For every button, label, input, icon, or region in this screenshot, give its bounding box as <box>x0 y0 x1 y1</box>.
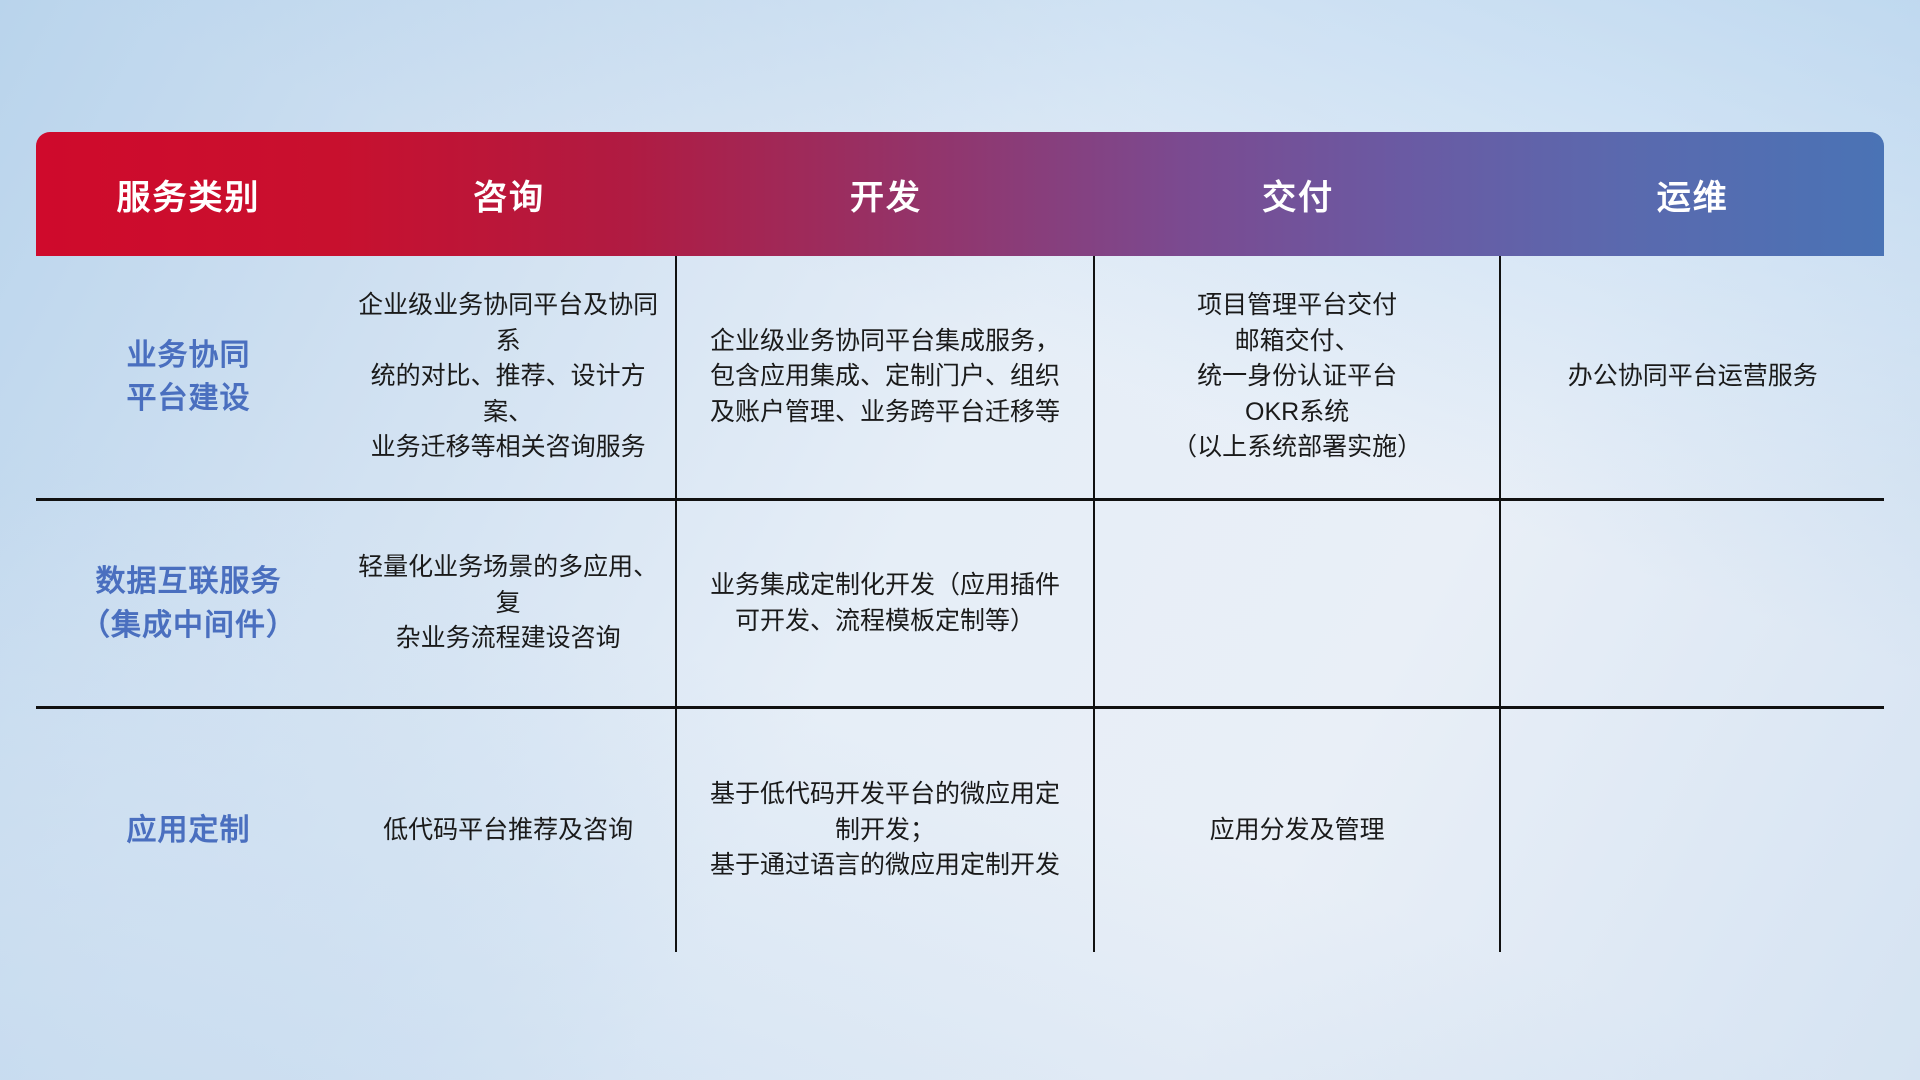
service-matrix-table-wrapper: 服务类别 咨询 开发 交付 运维 业务协同 平台建设 企业级业务协同平台及协同系… <box>36 132 1884 952</box>
table-row: 数据互联服务 （集成中间件） 轻量化业务场景的多应用、复 杂业务流程建设咨询 业… <box>36 501 1884 709</box>
header-row: 服务类别 咨询 开发 交付 运维 <box>36 132 1884 256</box>
cell-consulting: 轻量化业务场景的多应用、复 杂业务流程建设咨询 <box>341 501 677 709</box>
cell-delivery: 应用分发及管理 <box>1095 709 1502 952</box>
cell-text: 轻量化业务场景的多应用、复 杂业务流程建设咨询 <box>357 550 659 657</box>
column-header-operations-label: 运维 <box>1657 179 1729 217</box>
column-header-consulting-label: 咨询 <box>473 179 545 217</box>
cell-operations <box>1501 709 1884 952</box>
cell-development: 基于低代码开发平台的微应用定 制开发； 基于通过语言的微应用定制开发 <box>677 709 1095 952</box>
cell-development: 业务集成定制化开发（应用插件 可开发、流程模板定制等） <box>677 501 1095 709</box>
cell-text: 企业级业务协同平台集成服务， 包含应用集成、定制门户、组织 及账户管理、业务跨平… <box>693 324 1077 431</box>
cell-text: 数据互联服务 （集成中间件） <box>52 560 325 647</box>
table-row: 应用定制 低代码平台推荐及咨询 基于低代码开发平台的微应用定 制开发； 基于通过… <box>36 709 1884 952</box>
column-header-category: 服务类别 <box>36 132 341 256</box>
cell-operations <box>1501 501 1884 709</box>
table-row: 业务协同 平台建设 企业级业务协同平台及协同系 统的对比、推荐、设计方案、 业务… <box>36 256 1884 501</box>
column-header-category-label: 服务类别 <box>116 179 260 217</box>
cell-text: 业务集成定制化开发（应用插件 可开发、流程模板定制等） <box>693 568 1077 639</box>
cell-delivery <box>1095 501 1502 709</box>
cell-text: 应用定制 <box>52 809 325 853</box>
cell-text: 低代码平台推荐及咨询 <box>357 813 659 849</box>
column-header-delivery-label: 交付 <box>1262 179 1334 217</box>
table-header: 服务类别 咨询 开发 交付 运维 <box>36 132 1884 256</box>
cell-text: 项目管理平台交付 邮箱交付、 统一身份认证平台 OKR系统 （以上系统部署实施） <box>1111 288 1484 466</box>
cell-text: 应用分发及管理 <box>1111 813 1484 849</box>
cell-consulting: 低代码平台推荐及咨询 <box>341 709 677 952</box>
cell-development: 企业级业务协同平台集成服务， 包含应用集成、定制门户、组织 及账户管理、业务跨平… <box>677 256 1095 501</box>
cell-text: 企业级业务协同平台及协同系 统的对比、推荐、设计方案、 业务迁移等相关咨询服务 <box>357 288 659 466</box>
service-matrix-table: 服务类别 咨询 开发 交付 运维 业务协同 平台建设 企业级业务协同平台及协同系… <box>36 132 1884 952</box>
cell-consulting: 企业级业务协同平台及协同系 统的对比、推荐、设计方案、 业务迁移等相关咨询服务 <box>341 256 677 501</box>
column-header-development-label: 开发 <box>850 179 922 217</box>
row-category-label: 应用定制 <box>36 709 341 952</box>
cell-text: 基于低代码开发平台的微应用定 制开发； 基于通过语言的微应用定制开发 <box>693 777 1077 884</box>
column-header-operations: 运维 <box>1501 132 1884 256</box>
cell-operations: 办公协同平台运营服务 <box>1501 256 1884 501</box>
cell-text: 办公协同平台运营服务 <box>1517 359 1868 395</box>
column-header-consulting: 咨询 <box>341 132 677 256</box>
cell-delivery: 项目管理平台交付 邮箱交付、 统一身份认证平台 OKR系统 （以上系统部署实施） <box>1095 256 1502 501</box>
row-category-label: 业务协同 平台建设 <box>36 256 341 501</box>
column-header-development: 开发 <box>677 132 1095 256</box>
column-header-delivery: 交付 <box>1095 132 1502 256</box>
table-body: 业务协同 平台建设 企业级业务协同平台及协同系 统的对比、推荐、设计方案、 业务… <box>36 256 1884 952</box>
row-category-label: 数据互联服务 （集成中间件） <box>36 501 341 709</box>
cell-text: 业务协同 平台建设 <box>52 334 325 421</box>
